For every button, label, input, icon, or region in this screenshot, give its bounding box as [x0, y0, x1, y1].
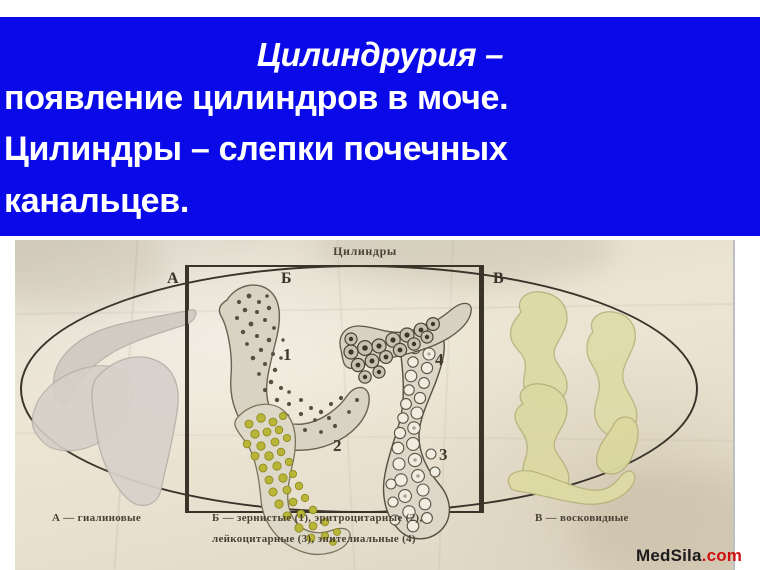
- title-line-1: Цилиндрурия –: [0, 37, 760, 73]
- hyaline-cast-group: [32, 310, 196, 506]
- caption-b-line1: Б — зернистые (1), эритроцитарные (2),: [212, 512, 422, 524]
- scanned-figure-photo: Цилиндры: [15, 240, 735, 570]
- caption-b-line2: лейкоцитарные (3), эпителиальные (4): [212, 533, 416, 545]
- panel-divider-b-v: [481, 265, 484, 513]
- cast-number-3: 3: [439, 445, 448, 465]
- cast-number-2: 2: [333, 436, 342, 456]
- watermark: MedSila.com: [636, 546, 742, 566]
- cast-number-4: 4: [435, 350, 444, 370]
- caption-a: А — гиалиновые: [52, 512, 141, 524]
- panel-label-v: В: [493, 270, 504, 288]
- title-line-4: канальцев.: [4, 182, 189, 220]
- watermark-suffix: .com: [702, 546, 742, 565]
- panel-label-b: Б: [281, 270, 292, 288]
- book-edge-strip: [733, 240, 735, 570]
- cast-number-1: 1: [283, 345, 292, 365]
- title-line-2: появление цилиндров в моче.: [4, 79, 508, 117]
- title-banner: Цилиндрурия – появление цилиндров в моче…: [0, 17, 760, 236]
- watermark-prefix: MedSila: [636, 546, 702, 565]
- top-white-strip: [0, 0, 760, 17]
- panel-label-a: А: [167, 270, 179, 288]
- panel-divider-a-b: [185, 265, 188, 513]
- slide-root: Цилиндрурия – появление цилиндров в моче…: [0, 0, 760, 570]
- title-line-3: Цилиндры – слепки почечных: [4, 130, 508, 168]
- waxy-cast-group: [508, 292, 638, 505]
- caption-v: В — восковидные: [535, 512, 629, 524]
